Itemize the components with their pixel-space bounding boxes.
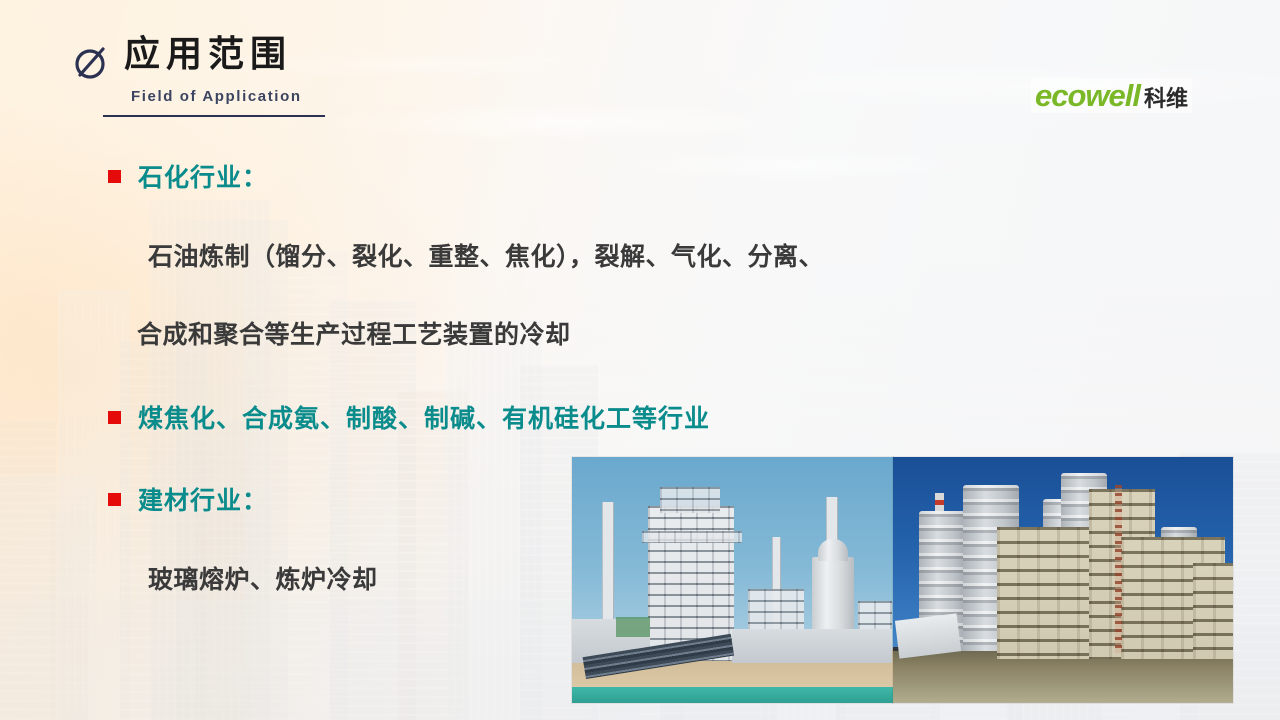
petrochemical-refinery-photo bbox=[572, 457, 893, 703]
page-title-en: Field of Application bbox=[131, 88, 302, 105]
slide-header: 应用范围 Field of Application ecowell 科维 bbox=[0, 0, 1280, 140]
brand-logo-text: ecowell bbox=[1035, 80, 1140, 111]
body-paragraph: 合成和聚合等生产过程工艺装置的冷却 bbox=[137, 315, 571, 351]
list-item: 建材行业： bbox=[108, 481, 268, 517]
industrial-plant-photo bbox=[893, 457, 1233, 703]
title-underline bbox=[103, 115, 325, 117]
list-item-label: 煤焦化、合成氨、制酸、制碱、有机硅化工等行业 bbox=[138, 399, 710, 435]
brand-logo: ecowell 科维 bbox=[1031, 78, 1192, 113]
list-item: 石化行业： bbox=[108, 158, 268, 194]
diameter-slash-icon bbox=[70, 40, 114, 84]
square-bullet-icon bbox=[108, 411, 121, 424]
body-paragraph: 玻璃熔炉、炼炉冷却 bbox=[148, 560, 378, 596]
square-bullet-icon bbox=[108, 493, 121, 506]
list-item-label: 建材行业： bbox=[138, 481, 268, 517]
body-paragraph: 石油炼制（馏分、裂化、重整、焦化），裂解、气化、分离、 bbox=[148, 237, 824, 273]
brand-logo-text-cn: 科维 bbox=[1144, 88, 1188, 110]
list-item: 煤焦化、合成氨、制酸、制碱、有机硅化工等行业 bbox=[108, 399, 710, 435]
slide-root: 应用范围 Field of Application ecowell 科维 石化行… bbox=[0, 0, 1280, 720]
square-bullet-icon bbox=[108, 170, 121, 183]
list-item-label: 石化行业： bbox=[138, 158, 268, 194]
page-title-cn: 应用范围 bbox=[124, 34, 292, 74]
